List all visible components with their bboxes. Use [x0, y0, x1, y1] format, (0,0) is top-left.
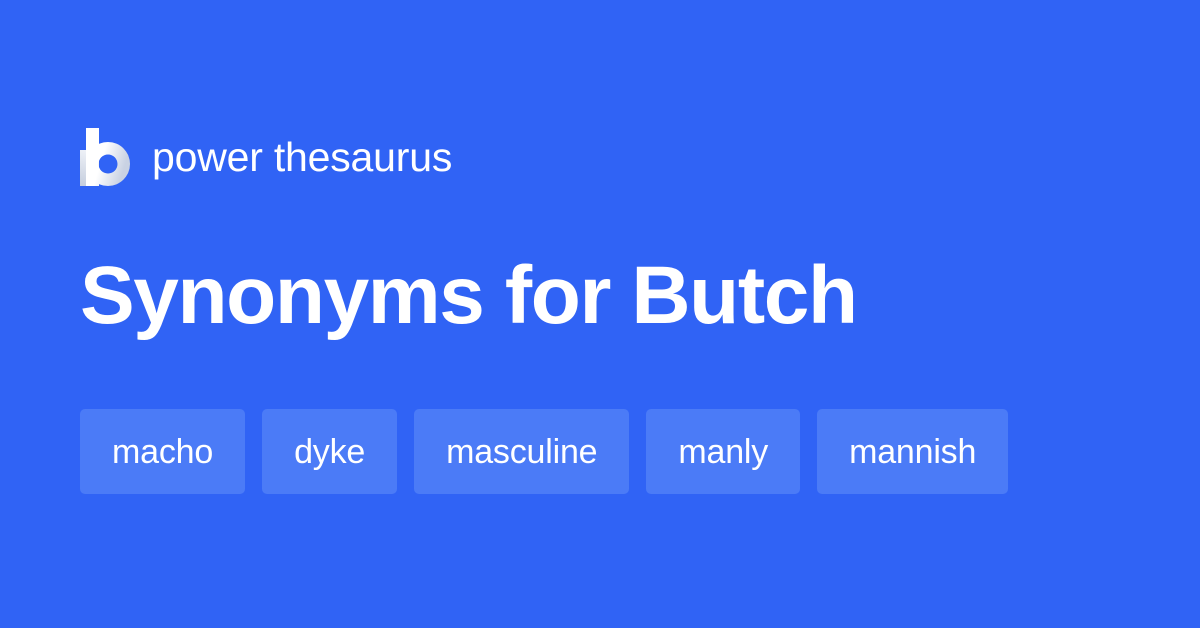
synonym-chip[interactable]: dyke — [262, 409, 397, 494]
share-card: power thesaurus Synonyms for Butch macho… — [0, 0, 1200, 628]
synonym-chip[interactable]: manly — [646, 409, 800, 494]
page-title: Synonyms for Butch — [80, 249, 857, 343]
brand-name: power thesaurus — [152, 137, 452, 178]
brand-header[interactable]: power thesaurus — [80, 126, 452, 188]
synonym-chip[interactable]: mannish — [817, 409, 1008, 494]
synonym-chip[interactable]: masculine — [414, 409, 629, 494]
synonym-chip-list: macho dyke masculine manly mannish — [80, 409, 1008, 494]
power-thesaurus-b-logo-icon — [80, 128, 130, 186]
synonym-chip[interactable]: macho — [80, 409, 245, 494]
